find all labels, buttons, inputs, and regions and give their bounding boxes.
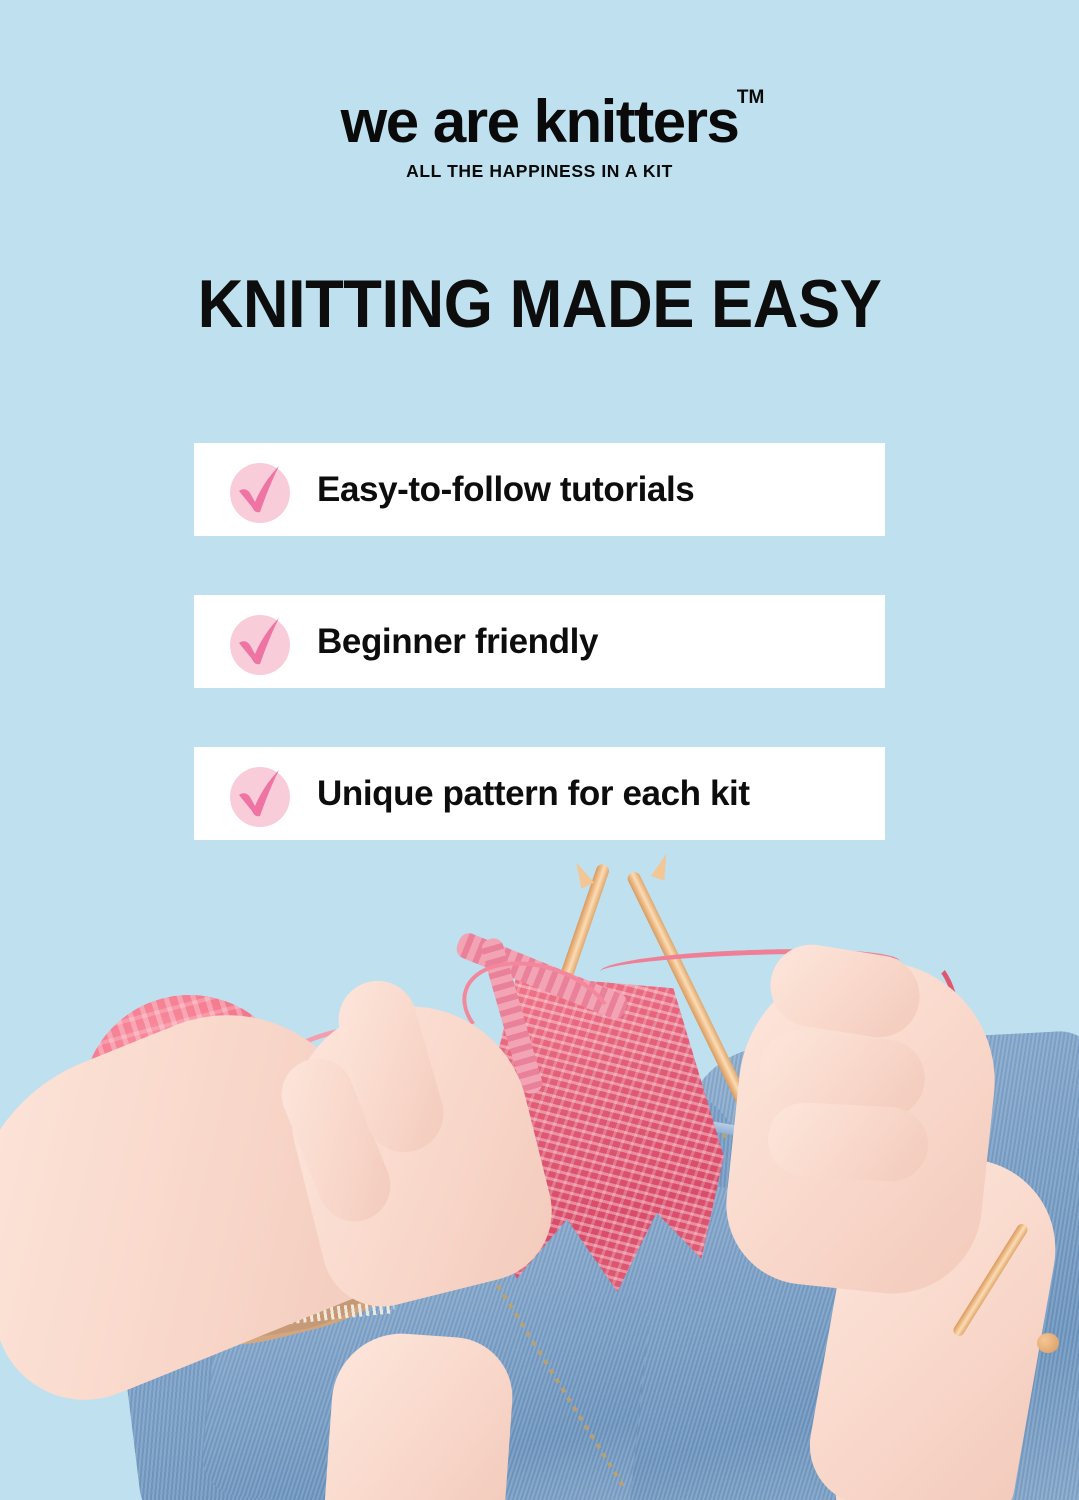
check-glyph — [227, 457, 293, 523]
feature-card-3: Unique pattern for each kit — [194, 747, 885, 840]
feature-label-1: Easy-to-follow tutorials — [317, 470, 694, 510]
hero-photo — [0, 855, 1079, 1500]
check-mark-icon — [227, 761, 293, 827]
feature-label-2: Beginner friendly — [317, 622, 598, 662]
needle-tip — [651, 855, 673, 881]
brand-wordmark-text: we are knitters — [341, 88, 739, 155]
brand-wordmark: we are knitters TM — [341, 92, 739, 152]
check-mark-icon — [227, 609, 293, 675]
brand-logo: we are knitters TM ALL THE HAPPINESS IN … — [0, 92, 1079, 182]
poster-canvas: we are knitters TM ALL THE HAPPINESS IN … — [0, 0, 1079, 1500]
check-mark-icon — [227, 457, 293, 523]
needle-end-knob — [1037, 1333, 1059, 1353]
leg — [324, 1329, 517, 1500]
feature-list: Easy-to-follow tutorials Beginner friend… — [194, 443, 885, 899]
trademark-icon: TM — [737, 88, 764, 107]
feature-label-3: Unique pattern for each kit — [317, 774, 750, 814]
brand-tagline: ALL THE HAPPINESS IN A KIT — [0, 161, 1079, 182]
needle-tip — [570, 859, 594, 889]
check-glyph — [227, 609, 293, 675]
feature-card-1: Easy-to-follow tutorials — [194, 443, 885, 536]
check-glyph — [227, 761, 293, 827]
finger — [766, 1101, 930, 1183]
feature-card-2: Beginner friendly — [194, 595, 885, 688]
page-title: KNITTING MADE EASY — [38, 268, 1041, 340]
